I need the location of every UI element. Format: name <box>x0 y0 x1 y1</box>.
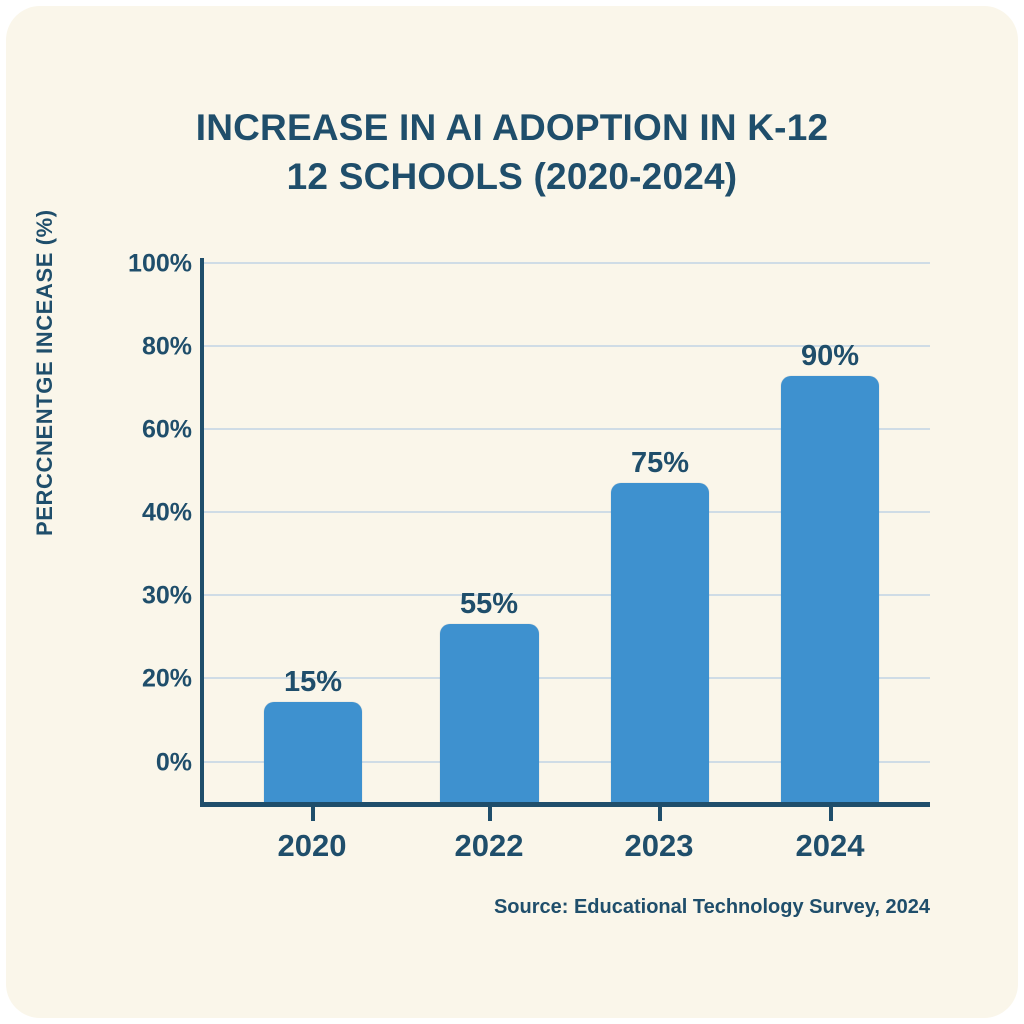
gridline-100 <box>204 262 930 264</box>
bar-value-2024: 90% <box>761 340 899 373</box>
x-tick-2022 <box>488 807 492 821</box>
chart-title-line-1: INCREASE IN AI ADOPTION IN K-12 <box>196 107 829 148</box>
bar-value-2023: 75% <box>591 447 729 480</box>
chart-title-line-2: 12 SCHOOLS (2020-2024) <box>6 153 1018 202</box>
y-tick-label-60: 60% <box>82 416 192 445</box>
bar-2024[interactable] <box>781 376 879 802</box>
x-axis-label-2023: 2023 <box>583 828 735 864</box>
y-tick-label-40: 40% <box>82 499 192 528</box>
bar-value-2022: 55% <box>420 588 558 621</box>
bar-2020[interactable] <box>264 702 362 802</box>
x-tick-2024 <box>829 807 833 821</box>
bar-2023[interactable] <box>611 483 709 802</box>
y-axis-line <box>200 258 204 806</box>
x-tick-2023 <box>658 807 662 821</box>
bar-2022[interactable] <box>440 624 539 802</box>
plot-area: 15% 55% 75% 90% 2020 2022 2023 2024 <box>200 258 930 806</box>
bar-value-2020: 15% <box>244 666 382 699</box>
chart-card: INCREASE IN AI ADOPTION IN K-12 12 SCHOO… <box>6 6 1018 1018</box>
source-note: Source: Educational Technology Survey, 2… <box>494 896 930 919</box>
y-tick-label-0: 0% <box>82 749 192 778</box>
x-axis-label-2020: 2020 <box>236 828 388 864</box>
x-axis-line <box>200 802 930 807</box>
chart-title: INCREASE IN AI ADOPTION IN K-12 12 SCHOO… <box>6 104 1018 202</box>
x-tick-2020 <box>311 807 315 821</box>
x-axis-label-2022: 2022 <box>413 828 565 864</box>
y-axis-title: PERCCNENTGE INCEASE (%) <box>32 209 58 536</box>
x-axis-label-2024: 2024 <box>754 828 906 864</box>
y-tick-label-80: 80% <box>82 333 192 362</box>
y-tick-label-100: 100% <box>82 250 192 279</box>
y-tick-label-20: 20% <box>82 665 192 694</box>
y-tick-label-30: 30% <box>82 582 192 611</box>
